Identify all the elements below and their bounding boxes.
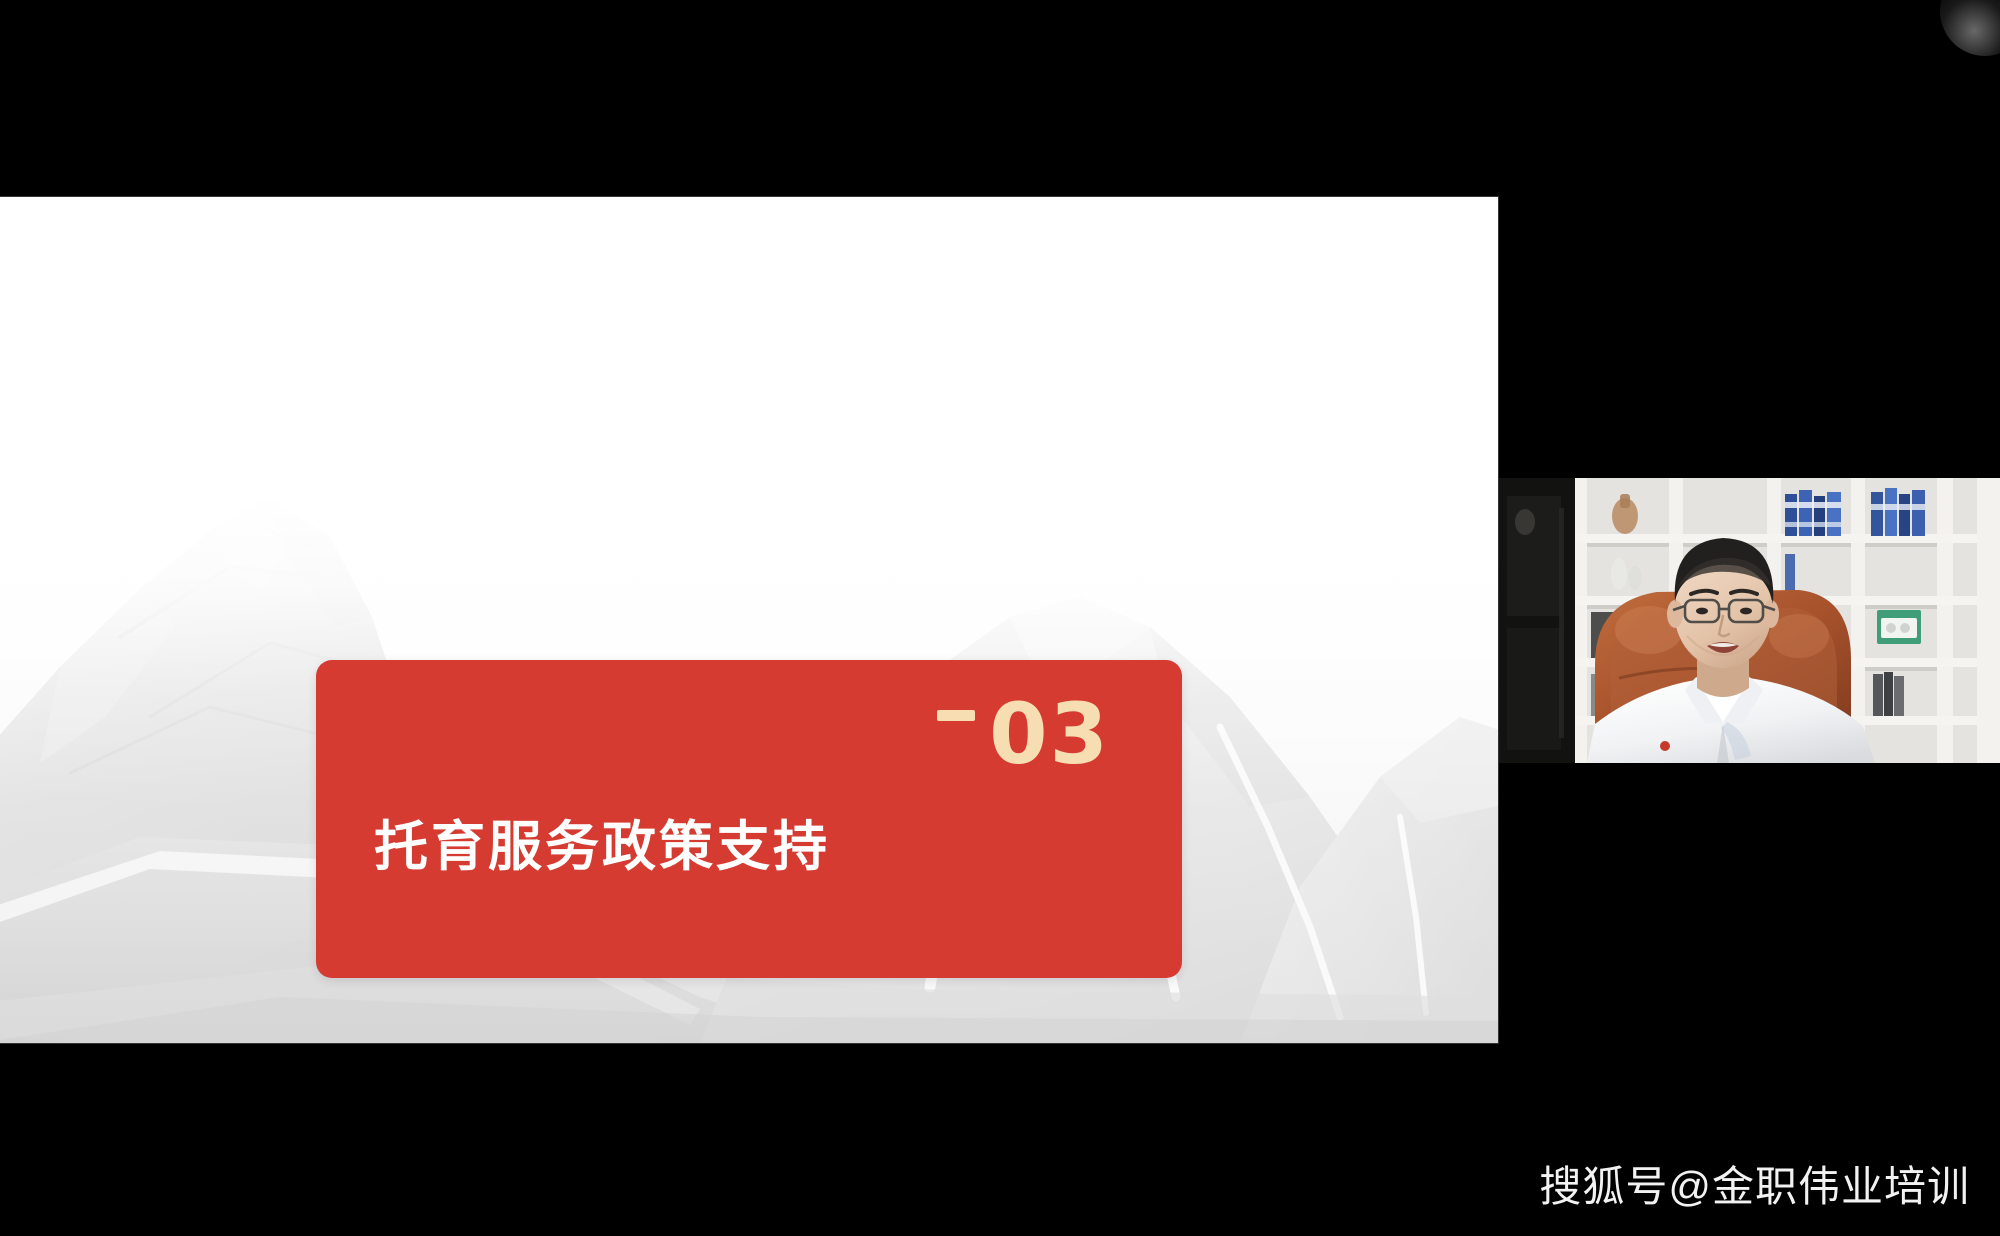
channel-watermark: 搜狐号@金职伟业培训 <box>1539 1153 1970 1214</box>
dash-icon <box>937 710 975 721</box>
section-title: 托育服务政策支持 <box>374 802 830 881</box>
presentation-slide: 03 托育服务政策支持 <box>0 197 1498 1043</box>
section-number-group: 03 <box>937 692 1110 776</box>
section-number: 03 <box>989 692 1110 776</box>
video-player-stage: 03 托育服务政策支持 <box>0 0 2000 1236</box>
section-card: 03 托育服务政策支持 <box>316 660 1182 978</box>
presenter-webcam-tile[interactable] <box>1499 478 2000 763</box>
lens-flare-icon <box>1940 0 2000 56</box>
